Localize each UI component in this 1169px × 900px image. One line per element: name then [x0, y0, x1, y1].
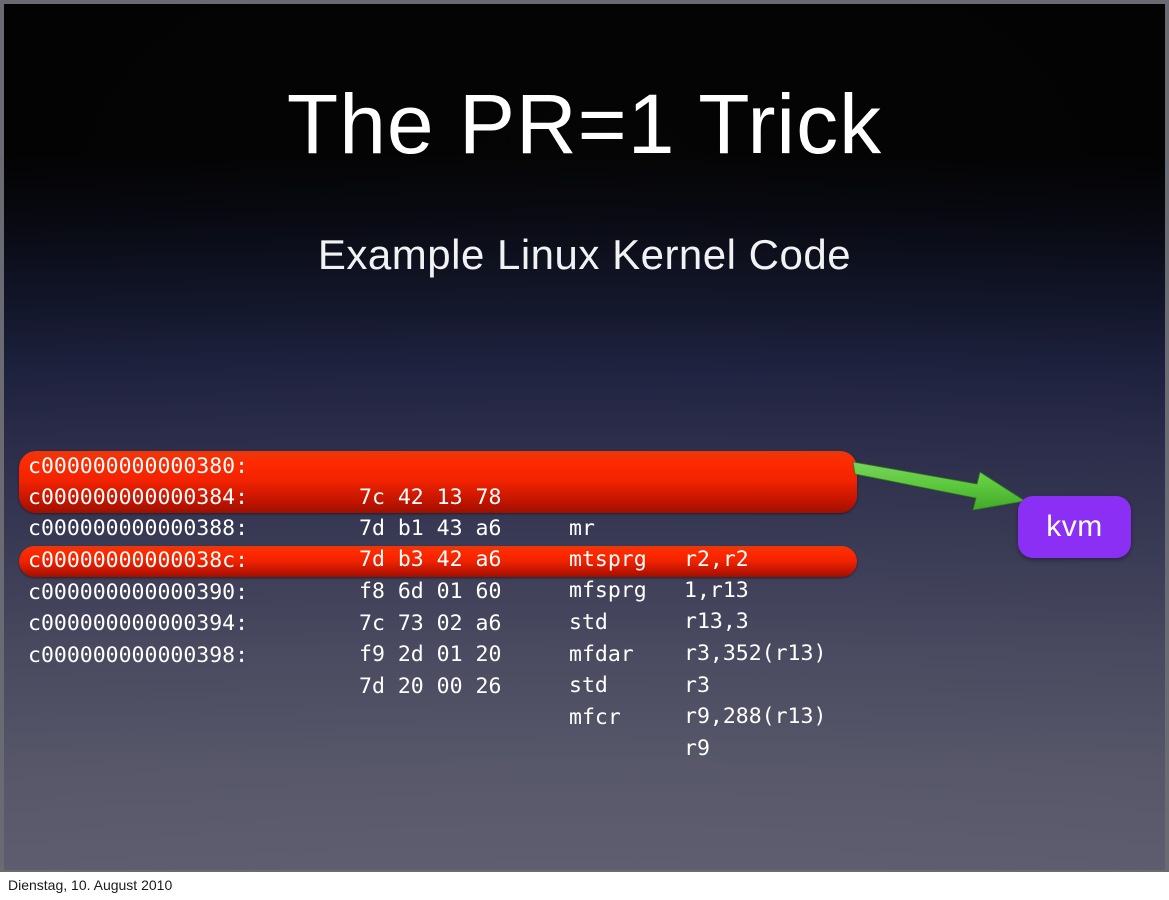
- page-title: The PR=1 Trick: [4, 82, 1165, 166]
- slide-frame: The PR=1 Trick Example Linux Kernel Code…: [0, 0, 1169, 872]
- code-row: c000000000000390: 7c 73 02 a6 mfdar r3: [4, 546, 1165, 577]
- code-mnemonic: mfcr: [569, 702, 621, 733]
- green-arrow-icon: [849, 454, 1034, 514]
- code-mnemonic: mfdar: [569, 639, 634, 670]
- code-bytes: f9 2d 01 20: [359, 639, 501, 670]
- code-operands: r3,352(r13): [684, 638, 826, 669]
- code-row: c00000000000038c: f8 6d 01 60 std r3,352…: [4, 514, 1165, 545]
- code-row: c000000000000380: 7c 42 13 78 mr r2,r2: [4, 420, 1165, 451]
- code-row: c000000000000398: 7d 20 00 26 mfcr r9: [4, 609, 1165, 640]
- code-operands: r9,288(r13): [684, 701, 826, 732]
- kvm-badge: kvm: [1018, 496, 1131, 558]
- slide-canvas: The PR=1 Trick Example Linux Kernel Code…: [4, 4, 1165, 870]
- code-row: c000000000000394: f9 2d 01 20 std r9,288…: [4, 577, 1165, 608]
- kvm-badge-label: kvm: [1046, 510, 1103, 544]
- code-operands: r3: [684, 670, 710, 701]
- code-mnemonic: std: [569, 670, 608, 701]
- footer-date: Dienstag, 10. August 2010: [8, 877, 172, 893]
- code-operands: r9: [684, 733, 710, 764]
- code-address: c000000000000398:: [28, 640, 248, 671]
- slide-footer: Dienstag, 10. August 2010: [0, 872, 1169, 900]
- slide-subtitle: Example Linux Kernel Code: [4, 234, 1165, 276]
- presentation-slide-screenshot: The PR=1 Trick Example Linux Kernel Code…: [0, 0, 1169, 900]
- code-bytes: 7d 20 00 26: [359, 671, 501, 702]
